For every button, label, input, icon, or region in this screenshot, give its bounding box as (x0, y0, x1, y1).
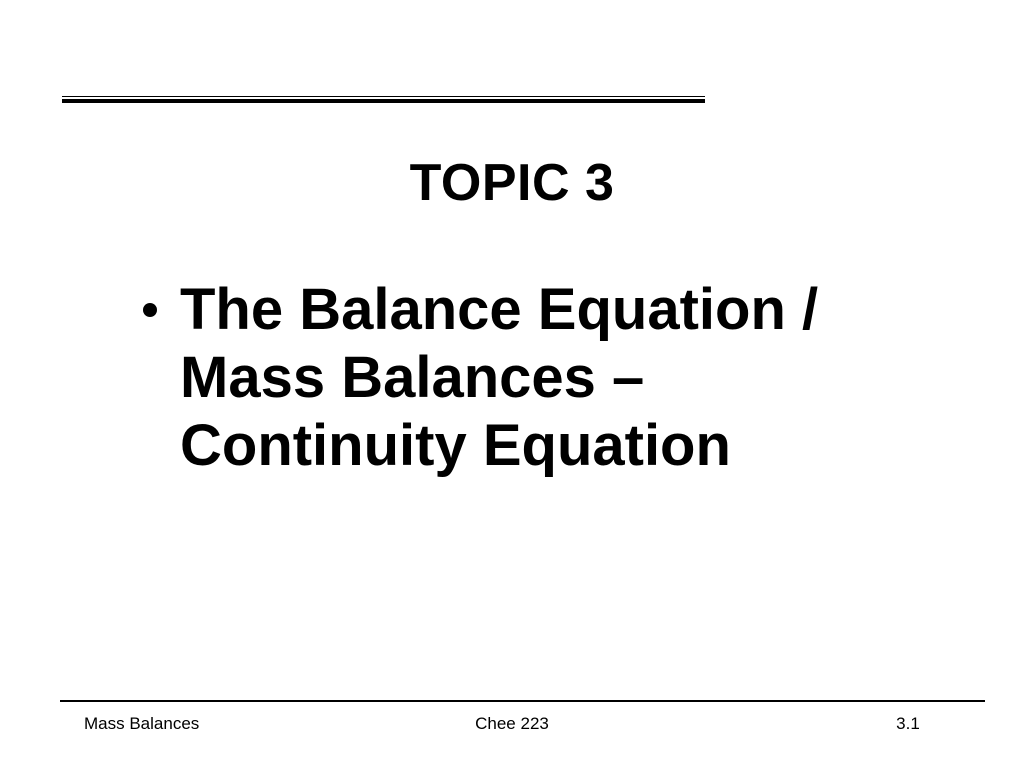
footer-page-number: 3.1 (862, 710, 954, 738)
bullet-list: The Balance Equation / Mass Balances – C… (136, 276, 916, 480)
top-divider-rule (62, 94, 705, 104)
footer-divider-rule (60, 700, 985, 702)
slide-canvas: TOPIC 3 The Balance Equation / Mass Bala… (0, 0, 1024, 768)
page-title: TOPIC 3 (0, 157, 1024, 209)
list-item-label: The Balance Equation / Mass Balances – C… (180, 276, 916, 480)
top-rule-thick-line (62, 99, 705, 103)
top-rule-thin-line (62, 96, 705, 97)
list-item: The Balance Equation / Mass Balances – C… (136, 276, 916, 480)
bullet-dot-icon (143, 303, 157, 317)
slide-footer: Mass Balances Chee 223 3.1 (0, 710, 1024, 738)
